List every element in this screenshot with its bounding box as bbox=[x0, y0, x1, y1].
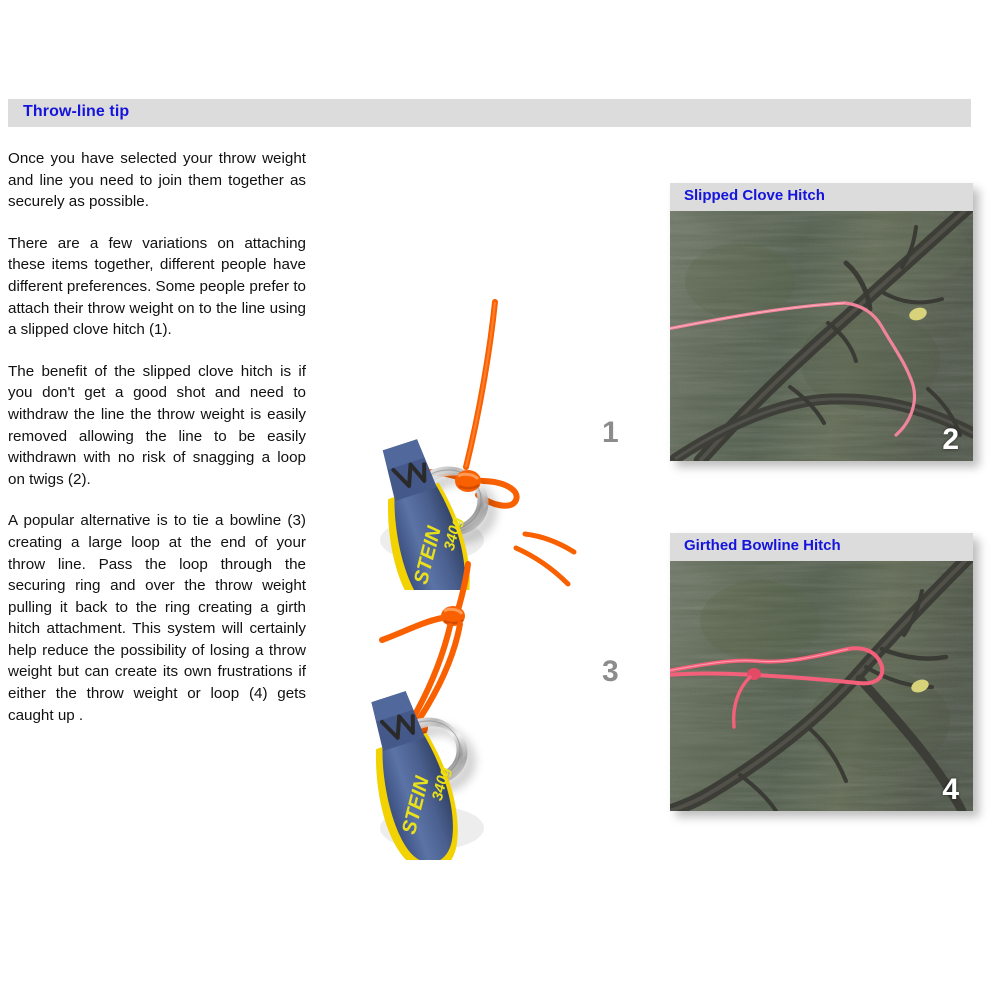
page-header-band: Throw-line tip bbox=[8, 99, 971, 127]
article-paragraph-2: There are a few variations on attaching … bbox=[8, 233, 306, 341]
photo-caption-bar-2: Girthed Bowline Hitch bbox=[670, 533, 973, 561]
photo-image-slipped-clove-hitch: 2 bbox=[670, 211, 973, 461]
page-title: Throw-line tip bbox=[23, 103, 129, 121]
article-body: Once you have selected your throw weight… bbox=[8, 148, 306, 726]
photo-caption-label-2: Girthed Bowline Hitch bbox=[684, 537, 841, 554]
throw-weight-illustration-girthed-bowline-hitch: STEIN 340g bbox=[320, 560, 580, 860]
photo-caption-bar-1: Slipped Clove Hitch bbox=[670, 183, 973, 211]
throw-weight-illustration-slipped-clove-hitch: STEIN 340g bbox=[320, 290, 580, 590]
article-paragraph-4: A popular alternative is to tie a bowlin… bbox=[8, 510, 306, 726]
step-number-1: 1 bbox=[602, 416, 619, 450]
article-paragraph-3: The benefit of the slipped clove hitch i… bbox=[8, 361, 306, 491]
article-paragraph-1: Once you have selected your throw weight… bbox=[8, 148, 306, 213]
illustration-column: 1 3 bbox=[320, 130, 660, 850]
photo-panel-girthed-bowline-hitch: Girthed Bowline Hitch bbox=[670, 533, 973, 811]
photo-caption-label-1: Slipped Clove Hitch bbox=[684, 187, 825, 204]
photo-image-girthed-bowline-hitch: 4 bbox=[670, 561, 973, 811]
step-number-3: 3 bbox=[602, 655, 619, 689]
photo-panel-slipped-clove-hitch: Slipped Clove Hitch bbox=[670, 183, 973, 461]
